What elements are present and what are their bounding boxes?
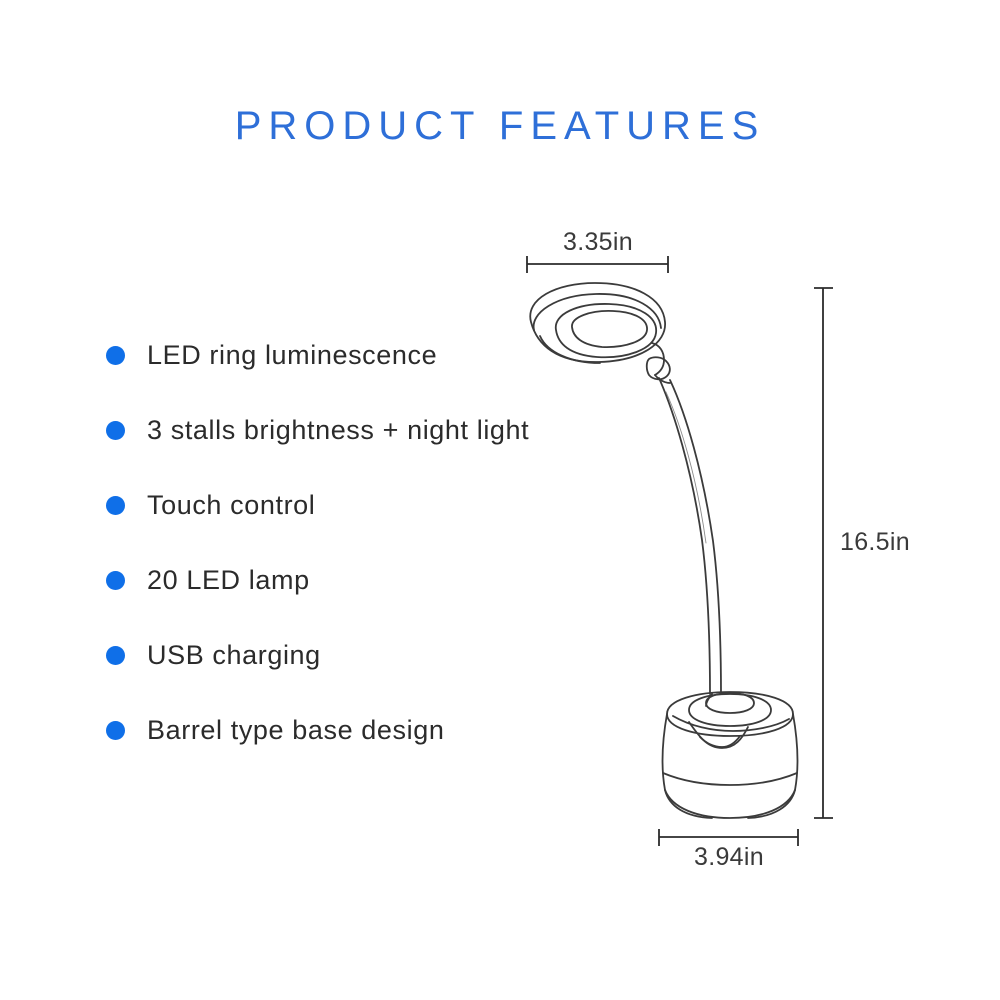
product-features-infographic: PRODUCT FEATURES LED ring luminescence 3… (0, 0, 1000, 1000)
dimension-label-height: 16.5in (840, 528, 910, 557)
lamp-head-ring (530, 283, 665, 363)
dimension-line-height (814, 288, 833, 818)
dimension-line-width-top (527, 256, 668, 273)
dimension-label-width-bottom: 3.94in (659, 843, 799, 872)
gooseneck-arm (659, 378, 721, 694)
dimension-label-width-top: 3.35in (527, 228, 669, 257)
desk-lamp-illustration (0, 0, 1000, 1000)
barrel-base (663, 692, 798, 818)
